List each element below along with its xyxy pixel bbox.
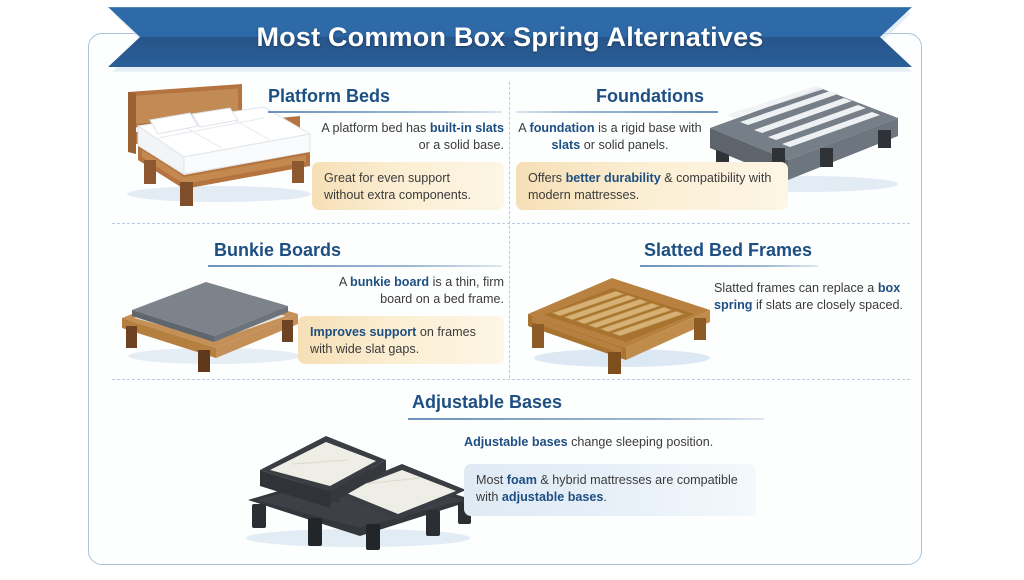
infographic-page: Most Common Box Spring Alternatives bbox=[0, 0, 1024, 580]
banner-ribbon: Most Common Box Spring Alternatives bbox=[108, 7, 912, 67]
body-adjustable-bases: Adjustable bases change sleeping positio… bbox=[464, 434, 794, 451]
callout-adjustable-bases: Most foam & hybrid mattresses are compat… bbox=[464, 464, 756, 516]
slatted-frame-illustration bbox=[522, 272, 718, 376]
title-banner: Most Common Box Spring Alternatives bbox=[108, 7, 916, 69]
heading-foundations: Foundations bbox=[596, 86, 704, 107]
heading-adjustable-bases: Adjustable Bases bbox=[412, 392, 562, 413]
heading-underline-bunkie-boards bbox=[208, 265, 502, 267]
heading-bunkie-boards: Bunkie Boards bbox=[214, 240, 341, 261]
section-slatted-bed-frames: Slatted Bed Frames Slatted frames can re… bbox=[516, 236, 910, 376]
heading-slatted-bed-frames: Slatted Bed Frames bbox=[644, 240, 812, 261]
body-platform-beds: A platform bed has built-in slats or a s… bbox=[318, 120, 504, 154]
divider-horizontal-bottom bbox=[112, 379, 910, 380]
divider-horizontal-top bbox=[112, 223, 910, 224]
page-title: Most Common Box Spring Alternatives bbox=[256, 22, 763, 53]
heading-underline-slatted-bed-frames bbox=[640, 265, 818, 267]
section-adjustable-bases: Adjustable Bases Adjustable bases change… bbox=[112, 386, 910, 556]
callout-bunkie-boards: Improves support on frames with wide sla… bbox=[298, 316, 504, 364]
callout-platform-beds: Great for even support without extra com… bbox=[312, 162, 504, 210]
body-slatted-bed-frames: Slatted frames can replace a box spring … bbox=[714, 280, 906, 314]
heading-platform-beds: Platform Beds bbox=[268, 86, 390, 107]
adjustable-base-illustration bbox=[230, 414, 480, 552]
heading-underline-adjustable-bases bbox=[408, 418, 764, 420]
body-bunkie-boards: A bunkie board is a thin, firm board on … bbox=[306, 274, 504, 308]
heading-underline-foundations bbox=[516, 111, 718, 113]
divider-vertical bbox=[509, 82, 510, 378]
heading-underline-platform-beds bbox=[268, 111, 502, 113]
section-foundations: Foundations A foundation is a rigid base… bbox=[516, 80, 910, 222]
bunkie-board-illustration bbox=[116, 270, 308, 374]
callout-foundations: Offers better durability & compatibility… bbox=[516, 162, 788, 210]
section-platform-beds: Platform Beds A platform bed has built-i… bbox=[112, 80, 504, 222]
section-bunkie-boards: Bunkie Boards A bunkie board is a thin, … bbox=[112, 236, 504, 376]
body-foundations: A foundation is a rigid base with slats … bbox=[516, 120, 704, 154]
